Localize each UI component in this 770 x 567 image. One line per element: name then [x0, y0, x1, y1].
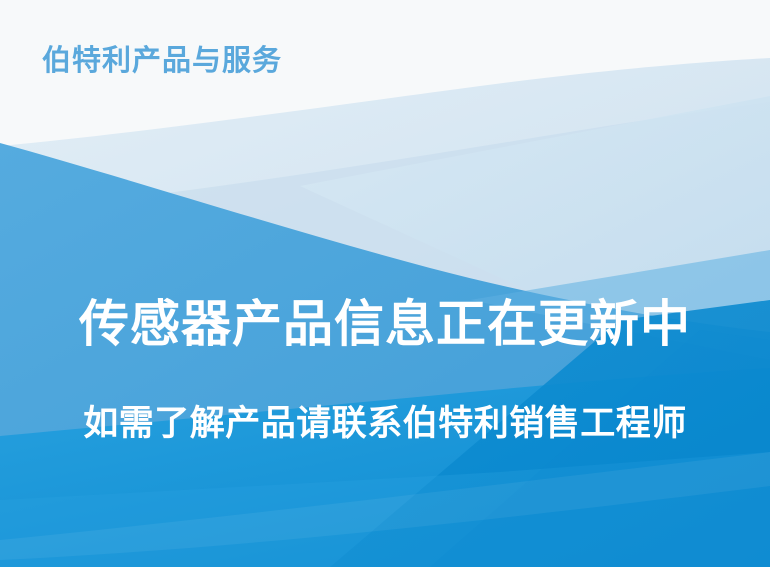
headline-block: 传感器产品信息正在更新中 — [0, 296, 770, 352]
headline-text: 传感器产品信息正在更新中 — [0, 296, 770, 352]
subheadline-text: 如需了解产品请联系伯特利销售工程师 — [0, 404, 770, 443]
text-overlay: 伯特利产品与服务 传感器产品信息正在更新中 如需了解产品请联系伯特利销售工程师 — [0, 0, 770, 567]
product-service-banner: 伯特利产品与服务 传感器产品信息正在更新中 如需了解产品请联系伯特利销售工程师 — [0, 0, 770, 567]
header-label: 伯特利产品与服务 — [42, 47, 282, 76]
subheadline-block: 如需了解产品请联系伯特利销售工程师 — [0, 404, 770, 443]
